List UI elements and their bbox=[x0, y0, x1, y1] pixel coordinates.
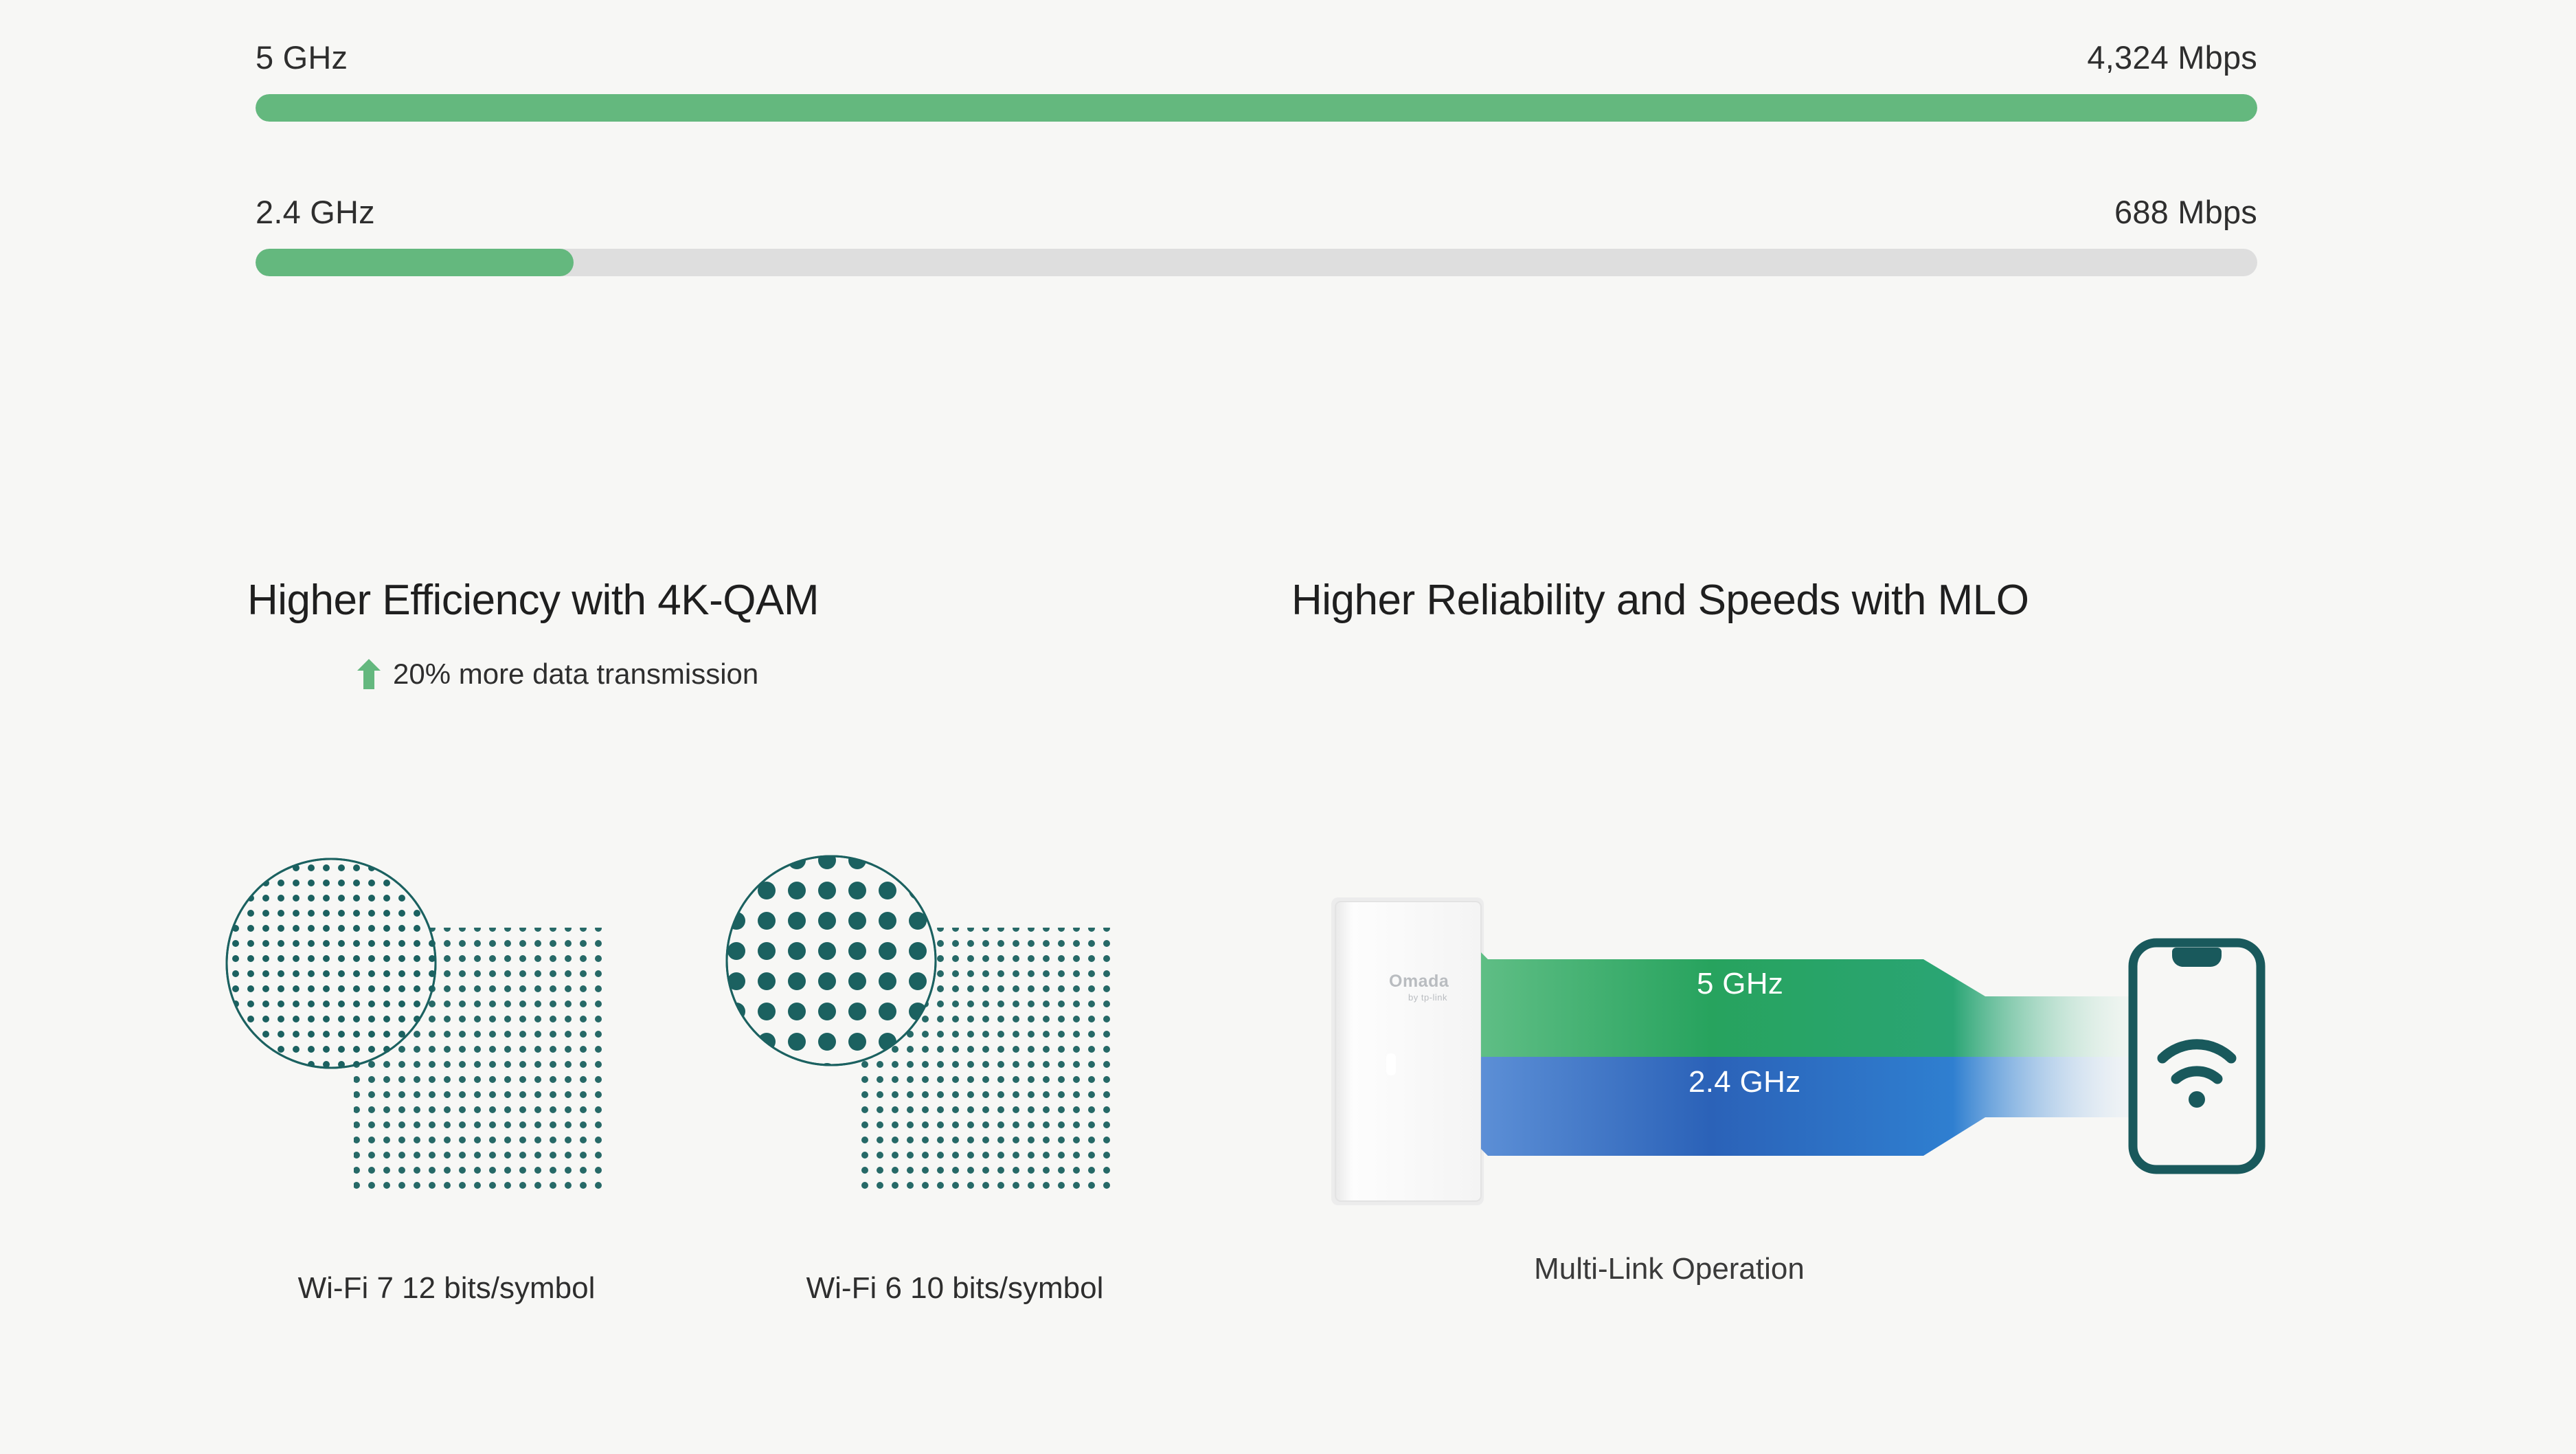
qam-diagram-wifi6: Wi-Fi 6 10 bits/symbol bbox=[721, 845, 1175, 1326]
speed-bar-row-5ghz: 5 GHz 4,324 Mbps bbox=[256, 38, 2257, 122]
qam-diagrams: Wi-Fi 7 12 bits/symbol Wi-Fi 6 10 bits/s… bbox=[213, 845, 1175, 1326]
feature-title-mlo: Higher Reliability and Speeds with MLO bbox=[1291, 576, 2576, 625]
band-label-5ghz: 5 GHz bbox=[1697, 967, 1783, 1001]
wifi6-constellation-icon bbox=[721, 845, 1175, 1257]
feature-subtitle-row: 20% more data transmission bbox=[357, 658, 1230, 691]
progress-track-5ghz bbox=[256, 94, 2257, 122]
feature-subtitle-qam: 20% more data transmission bbox=[393, 658, 758, 691]
qam-caption-wifi7: Wi-Fi 7 12 bits/symbol bbox=[220, 1271, 673, 1306]
wifi-signal-icon bbox=[2162, 1044, 2231, 1079]
feature-column-mlo: Higher Reliability and Speeds with MLO bbox=[1230, 576, 2576, 691]
feature-column-qam: Higher Efficiency with 4K-QAM 20% more d… bbox=[0, 576, 1230, 691]
qam-diagram-wifi7: Wi-Fi 7 12 bits/symbol bbox=[213, 845, 666, 1326]
arrow-up-icon bbox=[357, 659, 381, 689]
speed-bar-row-24ghz: 2.4 GHz 688 Mbps bbox=[256, 193, 2257, 276]
speed-value-24ghz: 688 Mbps bbox=[2114, 193, 2257, 231]
band-5ghz bbox=[1481, 952, 2136, 1057]
device-logo-text: Omada bbox=[1389, 972, 1449, 992]
mlo-caption: Multi-Link Operation bbox=[1326, 1252, 2013, 1286]
smartphone-client bbox=[2133, 943, 2261, 1170]
device-logo-subtext: by tp-link bbox=[1408, 992, 1447, 1003]
speed-bars-panel: 5 GHz 4,324 Mbps 2.4 GHz 688 Mbps bbox=[256, 38, 2257, 276]
band-label-24ghz: 2.4 GHz bbox=[1688, 1065, 1801, 1099]
speed-value-5ghz: 4,324 Mbps bbox=[2087, 38, 2257, 76]
progress-fill-24ghz bbox=[256, 249, 574, 276]
progress-fill-5ghz bbox=[256, 94, 2257, 122]
speed-bar-labels: 5 GHz 4,324 Mbps bbox=[256, 38, 2257, 76]
feature-title-qam: Higher Efficiency with 4K-QAM bbox=[247, 576, 1230, 625]
access-point-device bbox=[1331, 897, 1484, 1205]
features-section: Higher Efficiency with 4K-QAM 20% more d… bbox=[0, 576, 2576, 691]
speed-bar-labels: 2.4 GHz 688 Mbps bbox=[256, 193, 2257, 231]
progress-track-24ghz bbox=[256, 249, 2257, 276]
qam-caption-wifi6: Wi-Fi 6 10 bits/symbol bbox=[728, 1271, 1182, 1306]
band-24ghz bbox=[1481, 1057, 2136, 1156]
band-label-24ghz: 2.4 GHz bbox=[256, 193, 375, 231]
band-label-5ghz: 5 GHz bbox=[256, 38, 348, 76]
wifi7-constellation-icon bbox=[213, 845, 666, 1257]
